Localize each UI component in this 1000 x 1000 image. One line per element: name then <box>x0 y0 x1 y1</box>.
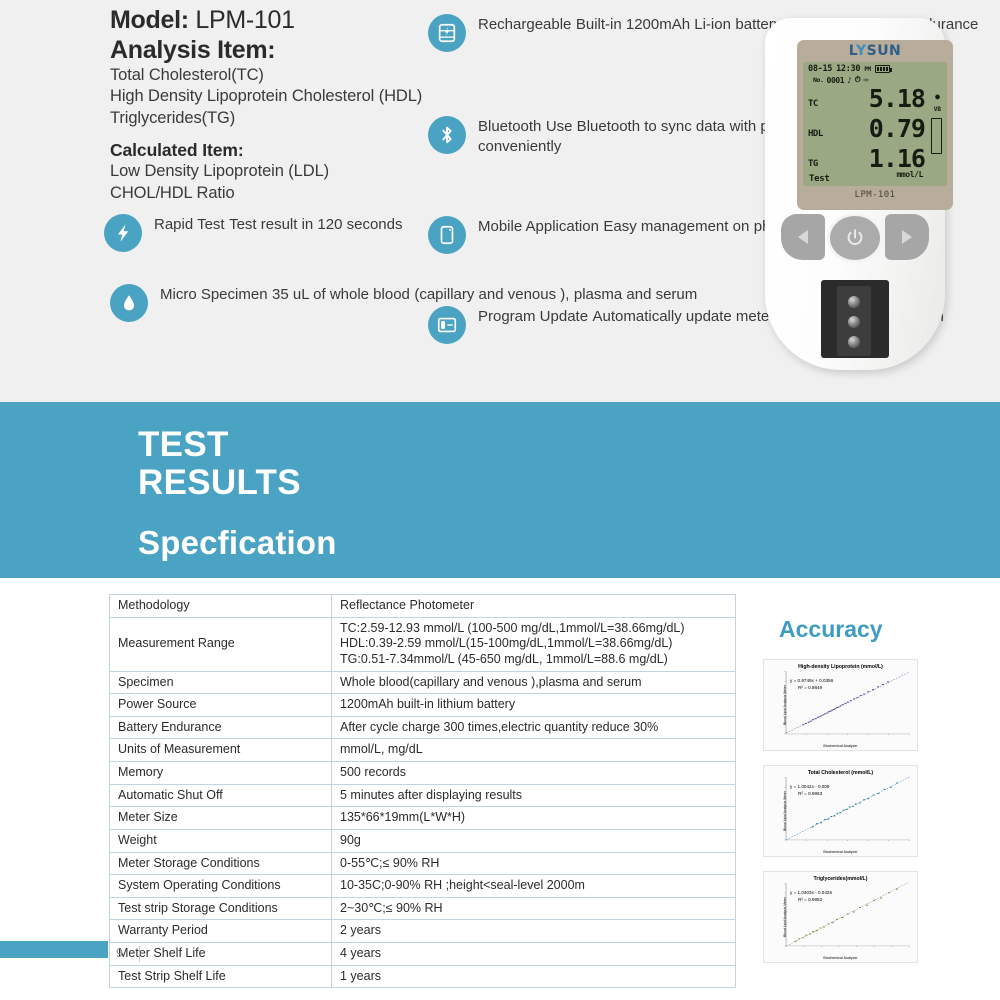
device-bezel: LYSUN 08-15 12:30 PM No. 0001 ♪ <box>797 40 953 210</box>
feature-line-0: 35 uL of whole blood <box>272 286 410 303</box>
lcd-drop-icon: ● <box>935 92 940 101</box>
chart-data-point <box>888 892 890 893</box>
chart-data-point <box>872 689 874 690</box>
chevron-right-icon <box>902 230 912 244</box>
chart-data-point <box>890 787 892 788</box>
spec-value-line: HDL:0.39-2.59 mmol/L(15-100mg/dL,1mmol/L… <box>340 636 729 652</box>
chart-data-point <box>798 938 800 939</box>
chart-data-point <box>853 698 855 699</box>
table-row: SpecimenWhole blood(capillary and venous… <box>110 671 736 694</box>
chart-data-point <box>896 783 898 784</box>
feature-title: Mobile Application <box>478 218 599 235</box>
feature-title: Bluetooth <box>478 118 541 135</box>
chart-data-point <box>852 806 854 807</box>
spec-value: Whole blood(capillary and venous ),plasm… <box>332 671 736 694</box>
banner-line-3: Specfication <box>138 524 337 562</box>
analysis-item-2: Triglycerides(TG) <box>110 108 440 129</box>
analysis-item-heading: Analysis Item: <box>110 36 440 65</box>
blood-drop-icon <box>110 284 148 322</box>
chart-data-point <box>846 809 848 810</box>
chart-data-point <box>840 705 842 706</box>
spec-key: Meter Size <box>110 807 332 830</box>
chart-y-axis-label: Blood Lipid Analysis Meter <box>783 897 787 937</box>
spec-value-line: TG:0.51-7.34mmol/L (45-650 mg/dL, 1mmol/… <box>340 652 729 668</box>
table-row: Power Source1200mAh built-in lithium bat… <box>110 694 736 717</box>
chart-data-point <box>850 700 852 701</box>
lcd-battery-icon <box>875 65 890 73</box>
accuracy-chart-hdl: High-density Lipoprotein (mmol/L) y = 0.… <box>763 659 918 751</box>
calculated-item-heading: Calculated Item: <box>110 140 440 161</box>
chart-plot-area <box>778 670 912 738</box>
chart-data-point <box>836 919 838 920</box>
spec-value: 5 minutes after displaying results <box>332 784 736 807</box>
model-value: LPM-101 <box>195 6 294 34</box>
chart-data-point <box>838 706 840 707</box>
table-row: Meter Storage Conditions0-55℃;≤ 90% RH <box>110 852 736 875</box>
spec-value: 0-55℃;≤ 90% RH <box>332 852 736 875</box>
feature-line-0: Test result in 120 seconds <box>229 216 402 233</box>
lcd-sound-icon: ♪ <box>847 76 851 85</box>
chart-data-point <box>808 722 810 723</box>
spec-value: 500 records <box>332 762 736 785</box>
chart-data-point <box>867 691 869 692</box>
device-left-arrow-button[interactable] <box>781 214 825 260</box>
product-overview-section: Model: LPM-101 Analysis Item: Total Chol… <box>0 0 1000 402</box>
chart-data-point <box>812 931 814 932</box>
device-illustration: LYSUN 08-15 12:30 PM No. 0001 ♪ <box>745 8 975 378</box>
spec-key: Test strip Storage Conditions <box>110 897 332 920</box>
table-row: Measurement RangeTC:2.59-12.93 mmol/L (1… <box>110 617 736 671</box>
power-icon <box>844 227 866 249</box>
program-update-icon <box>428 306 466 344</box>
page-root: Model: LPM-101 Analysis Item: Total Chol… <box>0 0 1000 1000</box>
spec-value: 2 years <box>332 920 736 943</box>
table-row: Warranty Period2 years <box>110 920 736 943</box>
chart-data-point <box>822 714 824 715</box>
feature-line-1: (capillary and venous ), <box>414 286 569 303</box>
banner-line-2: RESULTS <box>138 464 337 502</box>
lcd-value-tg: 1.16 <box>833 148 947 169</box>
device-model-print: LPM-101 <box>797 190 953 200</box>
chart-data-point <box>887 681 889 682</box>
chart-data-point <box>877 686 879 687</box>
chart-data-point <box>859 802 861 803</box>
feature-title: Rapid Test <box>154 216 225 233</box>
spec-value: 4 years <box>332 943 736 966</box>
chart-data-point <box>849 806 851 807</box>
chart-data-point <box>855 803 857 804</box>
lcd-result-row-tg: TG 1.16 <box>803 148 947 169</box>
model-line: Model: LPM-101 <box>110 6 440 35</box>
lcd-meridiem: PM <box>864 66 871 73</box>
lcd-result-row-tc: TC 5.18 <box>803 88 947 109</box>
feature-text: Micro Specimen 35 uL of whole blood (cap… <box>160 284 697 305</box>
chart-data-point <box>816 930 818 931</box>
chart-data-point <box>873 900 875 901</box>
lightning-bolt-icon <box>104 214 142 252</box>
device-power-button[interactable] <box>827 213 883 263</box>
port-slot <box>837 286 871 356</box>
section-banner: TEST RESULTS Specfication <box>0 402 1000 578</box>
table-row: Automatic Shut Off5 minutes after displa… <box>110 784 736 807</box>
chart-data-point <box>863 694 865 695</box>
chart-data-point <box>867 798 869 799</box>
lcd-monitor-icon: ⌨ <box>863 76 867 85</box>
specification-content: MethodologyReflectance PhotometerMeasure… <box>0 578 1000 1000</box>
chart-data-point <box>847 913 849 914</box>
table-row: Weight90g <box>110 829 736 852</box>
specification-table-body: MethodologyReflectance PhotometerMeasure… <box>110 595 736 988</box>
accuracy-chart-tg: Triglycerides(mmol/L) y = 1.0303x - 0.04… <box>763 871 918 963</box>
chart-data-point <box>817 717 819 718</box>
spec-key: Weight <box>110 829 332 852</box>
spec-key: Specimen <box>110 671 332 694</box>
spec-key: System Operating Conditions <box>110 875 332 898</box>
chart-data-point <box>802 937 804 938</box>
banner-line-1: TEST <box>138 426 337 464</box>
feature-title: Rechargeable <box>478 16 571 33</box>
chart-data-point <box>842 704 844 705</box>
model-label: Model: <box>110 6 189 34</box>
spec-value: 1 years <box>332 965 736 988</box>
spec-value: Reflectance Photometer <box>332 595 736 618</box>
port-contact-3 <box>848 336 860 348</box>
chart-data-point <box>827 923 829 924</box>
feature-line-0: Built-in 1200mAh Li-ion <box>576 16 731 33</box>
accuracy-chart-tc: Total Cholesterol (mmol/L) y = 1.0042x -… <box>763 765 918 857</box>
chart-data-point <box>896 889 898 890</box>
spec-value: TC:2.59-12.93 mmol/L (100-500 mg/dL,1mmo… <box>332 617 736 671</box>
spec-key: Methodology <box>110 595 332 618</box>
spec-value: 1200mAh built-in lithium battery <box>332 694 736 717</box>
lcd-record-label: No. <box>813 76 824 84</box>
device-test-strip-port <box>821 280 889 358</box>
spec-key: Automatic Shut Off <box>110 784 332 807</box>
lcd-test-strip-icon <box>931 118 942 154</box>
chart-data-point <box>826 712 828 713</box>
lcd-date: 08-15 <box>808 64 832 74</box>
analysis-item-1: High Density Lipoprotein Cholesterol (HD… <box>110 86 440 107</box>
chart-data-point <box>820 822 822 823</box>
chart-data-point <box>810 721 812 722</box>
port-contact-2 <box>848 316 860 328</box>
chart-data-point <box>833 709 835 710</box>
lcd-test-status: Test <box>809 174 829 184</box>
chart-x-axis-label: Biochemical Analyzer <box>764 744 917 748</box>
lcd-label-tg: TG <box>803 159 833 169</box>
chart-y-axis-label: Blood Lipid Analysis Meter <box>783 791 787 831</box>
feature-rapid-test: Rapid Test Test result in 120 seconds <box>104 214 403 252</box>
table-row: MethodologyReflectance Photometer <box>110 595 736 618</box>
chart-data-point <box>823 926 825 927</box>
bluetooth-icon <box>428 116 466 154</box>
table-row: System Operating Conditions10-35C;0-90% … <box>110 875 736 898</box>
feature-title: Program Update <box>478 308 588 325</box>
chart-data-point <box>859 907 861 908</box>
chart-data-point <box>856 697 858 698</box>
lcd-result-row-hdl: HDL 0.79 <box>803 118 947 139</box>
footer-accent-bar <box>0 941 108 958</box>
spec-key: Power Source <box>110 694 332 717</box>
chart-data-point <box>842 810 844 811</box>
chart-data-point <box>860 695 862 696</box>
chart-data-point <box>872 795 874 796</box>
chart-data-point <box>884 789 886 790</box>
chart-data-point <box>833 815 835 816</box>
device-body: LYSUN 08-15 12:30 PM No. 0001 ♪ <box>765 18 945 370</box>
feature-title: Micro Specimen <box>160 286 268 303</box>
spec-value: After cycle charge 300 times,electric qu… <box>332 716 736 739</box>
lcd-value-hdl: 0.79 <box>833 118 947 139</box>
calculated-item-1: CHOL/HDL Ratio <box>110 183 440 204</box>
table-row: Test Strip Shelf Life1 years <box>110 965 736 988</box>
chart-x-axis-label: Biochemical Analyzer <box>764 956 917 960</box>
spec-key: Warranty Period <box>110 920 332 943</box>
product-info-block: Model: LPM-101 Analysis Item: Total Chol… <box>110 6 440 204</box>
device-right-arrow-button[interactable] <box>885 214 929 260</box>
table-row: Units of Measurementmmol/L, mg/dL <box>110 739 736 762</box>
table-row: Memory500 records <box>110 762 736 785</box>
chart-data-point <box>827 818 829 819</box>
chart-data-point <box>834 708 836 709</box>
footer-page-number: 9 <box>116 946 123 960</box>
feature-text: Rapid Test Test result in 120 seconds <box>154 214 403 235</box>
chart-plot-area <box>778 882 912 950</box>
table-row: Meter Size135*66*19mm(L*W*H) <box>110 807 736 830</box>
chart-data-point <box>824 713 826 714</box>
feature-line-2: plasma and serum <box>574 286 697 303</box>
chart-data-point <box>863 799 865 800</box>
chart-data-point <box>805 935 807 936</box>
spec-value: 135*66*19mm(L*W*H) <box>332 807 736 830</box>
lcd-record-number: 0001 <box>827 76 845 85</box>
chart-data-point <box>844 703 846 704</box>
chart-data-point <box>841 917 843 918</box>
spec-value: 10-35C;0-90% RH ;height<seal-level 2000m <box>332 875 736 898</box>
lcd-vb-marker: VB <box>934 106 941 113</box>
lcd-value-tc: 5.18 <box>833 88 947 109</box>
spec-value-line: TC:2.59-12.93 mmol/L (100-500 mg/dL,1mmo… <box>340 621 729 637</box>
chart-data-point <box>853 911 855 912</box>
chart-y-axis-label: Blood Lipid Analysis Meter <box>783 685 787 725</box>
lcd-time: 12:30 <box>836 64 860 74</box>
spec-key: Test Strip Shelf Life <box>110 965 332 988</box>
chart-data-point <box>795 941 797 942</box>
spec-value: 2~30℃;≤ 90% RH <box>332 897 736 920</box>
chart-data-point <box>809 934 811 935</box>
chart-plot-area <box>778 776 912 844</box>
chart-data-point <box>836 813 838 814</box>
chart-x-axis-label: Biochemical Analyzer <box>764 850 917 854</box>
chart-data-point <box>839 812 841 813</box>
specification-table: MethodologyReflectance PhotometerMeasure… <box>109 594 736 988</box>
banner-text-block: TEST RESULTS Specfication <box>138 426 337 562</box>
feature-line-0: Easy management on <box>603 218 749 235</box>
chart-data-point <box>830 816 832 817</box>
device-brand-logo: LYSUN <box>797 43 953 59</box>
chart-data-point <box>812 826 814 827</box>
chart-data-point <box>805 723 807 724</box>
spec-key: Battery Endurance <box>110 716 332 739</box>
table-row: Test strip Storage Conditions2~30℃;≤ 90%… <box>110 897 736 920</box>
chart-data-point <box>802 724 804 725</box>
table-row: Meter Shelf Life4 years <box>110 943 736 966</box>
calculated-item-0: Low Density Lipoprotein (LDL) <box>110 161 440 182</box>
chevron-left-icon <box>798 230 808 244</box>
spec-key: Memory <box>110 762 332 785</box>
spec-key: Meter Storage Conditions <box>110 852 332 875</box>
lcd-label-tc: TC <box>803 99 833 109</box>
port-contact-1 <box>848 296 860 308</box>
chart-data-point <box>819 716 821 717</box>
chart-data-point <box>829 711 831 712</box>
mobile-phone-icon <box>428 216 466 254</box>
chart-data-point <box>847 702 849 703</box>
lcd-clock-icon: ⏱ <box>855 75 861 85</box>
chart-data-point <box>880 898 882 899</box>
spec-key: Units of Measurement <box>110 739 332 762</box>
spec-key: Measurement Range <box>110 617 332 671</box>
spec-key: Meter Shelf Life <box>110 943 332 966</box>
chart-data-point <box>866 905 868 906</box>
lcd-status-bar: 08-15 12:30 PM <box>808 64 943 74</box>
chart-data-point <box>877 793 879 794</box>
lcd-unit: mmol/L <box>897 170 924 179</box>
battery-icon <box>428 14 466 52</box>
feature-line-2: conveniently <box>478 138 561 155</box>
chart-data-point <box>882 684 884 685</box>
analysis-item-0: Total Cholesterol(TC) <box>110 65 440 86</box>
chart-data-point <box>812 719 814 720</box>
device-lcd-screen: 08-15 12:30 PM No. 0001 ♪ ⏱ ⌨ <box>803 62 947 186</box>
feature-line-0: Use Bluetooth to sync data <box>546 118 725 135</box>
lcd-label-hdl: HDL <box>803 129 833 139</box>
chart-data-point <box>824 819 826 820</box>
chart-data-point <box>819 927 821 928</box>
table-row: Battery EnduranceAfter cycle charge 300 … <box>110 716 736 739</box>
chart-data-point <box>832 922 834 923</box>
accuracy-title: Accuracy <box>779 616 883 643</box>
spec-value: mmol/L, mg/dL <box>332 739 736 762</box>
chart-data-point <box>816 823 818 824</box>
chart-data-point <box>814 718 816 719</box>
spec-value: 90g <box>332 829 736 852</box>
footer-divider <box>139 946 140 962</box>
